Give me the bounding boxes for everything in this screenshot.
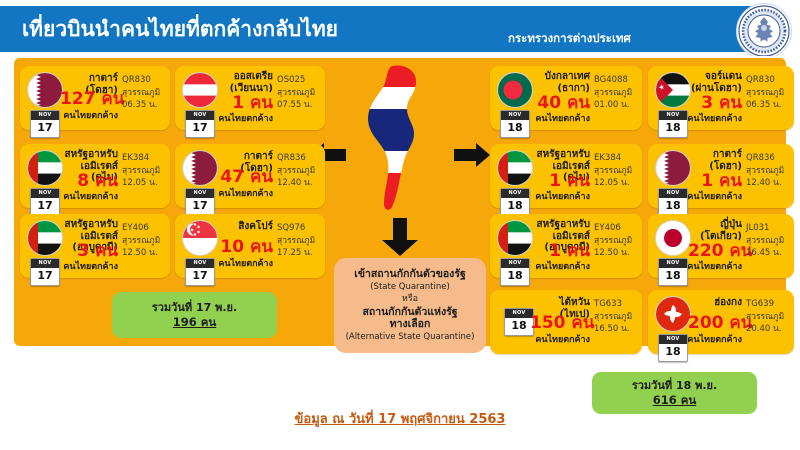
flight-passenger-count: 1 คน <box>688 172 742 190</box>
flight-airport: สุวรรณภูมิ <box>746 166 784 176</box>
page-header: เที่ยวบินนำคนไทยที่ตกค้างกลับไทย กระทรวง… <box>0 0 800 58</box>
flight-number: EY406 <box>594 223 621 233</box>
flight-card: NOV18ฮ่องกง200 คนคนไทยตกค้างTG639สุวรรณภ… <box>648 290 794 354</box>
flight-card: NOV18ญี่ปุ่น(โตเกียว)220 คนคนไทยตกค้างJL… <box>648 214 794 278</box>
flight-passenger-count: 220 คน <box>688 242 742 260</box>
quarantine-box: เข้าสถานกักกันตัวของรัฐ (State Quarantin… <box>334 258 486 353</box>
flight-country: ฮ่องกง <box>688 297 742 309</box>
thailand-map-graphic <box>352 62 448 212</box>
flight-airport: สุวรรณภูมิ <box>122 236 160 246</box>
flight-stranded-label: คนไทยตกค้าง <box>682 335 742 345</box>
flight-airport: สุวรรณภูมิ <box>594 236 632 246</box>
flight-passenger-count: 47 คน <box>215 168 273 186</box>
flight-number: QR836 <box>277 153 306 163</box>
flight-time: 16.50 น. <box>594 324 630 334</box>
flight-number: OS025 <box>277 75 305 85</box>
flight-airport: สุวรรณภูมิ <box>746 88 784 98</box>
flag-icon-uae <box>497 150 533 186</box>
flight-airport: สุวรรณภูมิ <box>746 312 784 322</box>
flight-number: QR836 <box>746 153 775 163</box>
flight-passenger-count: 40 คน <box>530 94 590 112</box>
flight-details: QR830สุวรรณภูมิ06.35 น. <box>746 74 792 112</box>
flight-card: NOV17กาตาร์ (โดฮา)47 คนคนไทยตกค้างQR836ส… <box>175 144 325 208</box>
flight-card: NOV18ไต้หวัน (ไทเป)150 คนคนไทยตกค้างTG63… <box>490 290 642 354</box>
arrow-right-icon <box>452 142 492 172</box>
flight-time: 12.05 น. <box>122 178 158 188</box>
flight-number: SQ976 <box>277 223 305 233</box>
date-badge-day: 18 <box>505 318 533 335</box>
flight-card: NOV17กาตาร์ (โดฮา)127 คนคนไทยตกค้างQR830… <box>20 66 170 130</box>
flight-stranded-label: คนไทยตกค้าง <box>524 335 590 345</box>
flight-details: EK384สุวรรณภูมิ12.05 น. <box>122 152 168 190</box>
flight-time: 20.40 น. <box>746 324 782 334</box>
total-nov18-label: รวมวันที่ 18 พ.ย. <box>632 378 717 393</box>
flight-airport: สุวรรณภูมิ <box>594 312 632 322</box>
flight-card: NOV18กาตาร์(โดฮา)1 คนคนไทยตกค้างQR836สุว… <box>648 144 794 208</box>
flight-card: NOV18จอร์แดน(ผ่านโดฮา)3 คนคนไทยตกค้างQR8… <box>648 66 794 130</box>
flight-stranded-label: คนไทยตกค้าง <box>54 192 118 202</box>
flight-stranded-label: คนไทยตกค้าง <box>209 259 273 269</box>
flight-passenger-count: 127 คน <box>60 90 118 108</box>
date-badge-day: 17 <box>31 120 59 137</box>
flag-icon-jordan <box>655 72 691 108</box>
date-badge-day: 18 <box>659 344 687 361</box>
flight-number: TG639 <box>746 299 774 309</box>
quarantine-line1-en: (State Quarantine) <box>370 281 450 294</box>
flight-time: 12.50 น. <box>594 248 630 258</box>
flight-passenger-count: 1 คน <box>530 172 590 190</box>
flight-country: สิงคโปร์ <box>215 221 273 233</box>
date-badge-month: NOV <box>505 309 533 318</box>
flight-airport: สุวรรณภูมิ <box>594 166 632 176</box>
flight-card: NOV18สหรัฐอาหรับเอมิเรตส์(ดูไบ)1 คนคนไทย… <box>490 144 642 208</box>
flag-icon-uae <box>27 150 63 186</box>
flight-number: EY406 <box>122 223 149 233</box>
flight-time: 16.45 น. <box>746 248 782 258</box>
flag-icon-bangladesh <box>497 72 533 108</box>
data-as-of-note: ข้อมูล ณ วันที่ 17 พฤศจิกายน 2563 <box>0 408 800 429</box>
flight-details: EY406สุวรรณภูมิ12.50 น. <box>594 222 640 260</box>
flight-details: EK384สุวรรณภูมิ12.05 น. <box>594 152 640 190</box>
flight-number: JL031 <box>746 223 769 233</box>
quarantine-line3-th: ทางเลือก <box>390 318 431 331</box>
flight-card: NOV17สหรัฐอาหรับเอมิเรตส์(ดูไบ)8 คนคนไทย… <box>20 144 170 208</box>
flight-card: NOV17สิงคโปร์10 คนคนไทยตกค้างSQ976สุวรรณ… <box>175 214 325 278</box>
flight-number: QR830 <box>122 75 151 85</box>
date-badge-day: 17 <box>186 268 214 285</box>
flight-country: จอร์แดน(ผ่านโดฮา) <box>688 71 742 94</box>
flag-icon-qatar <box>27 72 63 108</box>
flight-time: 12.40 น. <box>277 178 313 188</box>
flight-card: NOV18บังกลาเทศ(ธากา)40 คนคนไทยตกค้างBG40… <box>490 66 642 130</box>
flight-details: BG4088สุวรรณภูมิ01.00 น. <box>594 74 640 112</box>
quarantine-line2-th: สถานกักกันตัวแห่งรัฐ <box>362 306 457 319</box>
flight-stranded-label: คนไทยตกค้าง <box>524 192 590 202</box>
flight-time: 17.25 น. <box>277 248 313 258</box>
total-nov18-value: 616 คน <box>653 393 697 408</box>
flag-icon-qatar <box>655 150 691 186</box>
garuda-seal-icon <box>736 3 792 59</box>
flight-number: TG633 <box>594 299 622 309</box>
date-badge-day: 17 <box>186 198 214 215</box>
flight-passenger-count: 1 คน <box>530 242 590 260</box>
flag-icon-singapore <box>182 220 218 256</box>
flag-icon-hongkong <box>655 296 691 332</box>
flight-card: NOV17สหรัฐอาหรับเอมิเรตส์(อาบูดาบี)3 คนค… <box>20 214 170 278</box>
flight-passenger-count: 150 คน <box>530 314 590 332</box>
flight-stranded-label: คนไทยตกค้าง <box>682 192 742 202</box>
flight-country: ญี่ปุ่น(โตเกียว) <box>688 219 742 242</box>
flight-airport: สุวรรณภูมิ <box>122 88 160 98</box>
flight-time: 12.40 น. <box>746 178 782 188</box>
flight-details: EY406สุวรรณภูมิ12.50 น. <box>122 222 168 260</box>
flight-stranded-label: คนไทยตกค้าง <box>682 114 742 124</box>
flight-country: กาตาร์(โดฮา) <box>688 149 742 172</box>
flight-passenger-count: 200 คน <box>688 314 742 332</box>
total-nov17-label: รวมวันที่ 17 พ.ย. <box>152 300 237 315</box>
flight-details: QR830สุวรรณภูมิ06.35 น. <box>122 74 168 112</box>
flight-time: 01.00 น. <box>594 100 630 110</box>
flight-airport: สุวรรณภูมิ <box>277 166 315 176</box>
flight-passenger-count: 3 คน <box>60 242 118 260</box>
flight-airport: สุวรรณภูมิ <box>277 88 315 98</box>
flag-icon-austria <box>182 72 218 108</box>
flight-number: EK384 <box>594 153 621 163</box>
flight-number: EK384 <box>122 153 149 163</box>
flight-stranded-label: คนไทยตกค้าง <box>524 114 590 124</box>
flight-passenger-count: 10 คน <box>215 238 273 256</box>
flight-passenger-count: 1 คน <box>215 94 273 112</box>
flag-icon-qatar <box>182 150 218 186</box>
flight-number: QR830 <box>746 75 775 85</box>
flight-airport: สุวรรณภูมิ <box>277 236 315 246</box>
flight-card: NOV17ออสเตรีย(เวียนนา)1 คนคนไทยตกค้างOS0… <box>175 66 325 130</box>
flight-country: บังกลาเทศ(ธากา) <box>530 71 590 94</box>
arrow-down-icon <box>378 216 422 262</box>
flight-stranded-label: คนไทยตกค้าง <box>524 262 590 272</box>
flight-details: TG639สุวรรณภูมิ20.40 น. <box>746 298 792 336</box>
flag-icon-japan <box>655 220 691 256</box>
flight-details: JL031สุวรรณภูมิ16.45 น. <box>746 222 792 260</box>
total-nov17-box: รวมวันที่ 17 พ.ย. 196 คน <box>112 292 277 338</box>
flight-stranded-label: คนไทยตกค้าง <box>54 262 118 272</box>
flight-details: TG633สุวรรณภูมิ16.50 น. <box>594 298 640 336</box>
flight-details: QR836สุวรรณภูมิ12.40 น. <box>277 152 323 190</box>
flight-stranded-label: คนไทยตกค้าง <box>209 114 273 124</box>
flight-passenger-count: 3 คน <box>688 94 742 112</box>
flag-icon-uae <box>497 220 533 256</box>
flight-time: 12.50 น. <box>122 248 158 258</box>
flight-card: NOV18สหรัฐอาหรับเอมิเรตส์(อาบูดาบี)1 คนค… <box>490 214 642 278</box>
quarantine-line1-th: เข้าสถานกักกันตัวของรัฐ <box>354 268 466 281</box>
total-nov17-value: 196 คน <box>173 315 217 330</box>
flight-airport: สุวรรณภูมิ <box>746 236 784 246</box>
page-title: เที่ยวบินนำคนไทยที่ตกค้างกลับไทย <box>22 13 338 46</box>
flight-time: 12.05 น. <box>594 178 630 188</box>
flight-details: SQ976สุวรรณภูมิ17.25 น. <box>277 222 323 260</box>
flight-time: 07.55 น. <box>277 100 313 110</box>
flight-country: ออสเตรีย(เวียนนา) <box>215 71 273 94</box>
flight-airport: สุวรรณภูมิ <box>594 88 632 98</box>
quarantine-or: หรือ <box>402 293 418 306</box>
flight-details: QR836สุวรรณภูมิ12.40 น. <box>746 152 792 190</box>
flight-time: 06.35 น. <box>122 100 158 110</box>
flight-stranded-label: คนไทยตกค้าง <box>54 111 118 121</box>
flight-stranded-label: คนไทยตกค้าง <box>209 189 273 199</box>
flight-details: OS025สุวรรณภูมิ07.55 น. <box>277 74 323 112</box>
ministry-label: กระทรวงการต่างประเทศ <box>508 30 631 48</box>
flight-time: 06.35 น. <box>746 100 782 110</box>
flight-airport: สุวรรณภูมิ <box>122 166 160 176</box>
quarantine-line2-en: (Alternative State Quarantine) <box>346 331 475 344</box>
flight-stranded-label: คนไทยตกค้าง <box>682 262 742 272</box>
flag-icon-uae <box>27 220 63 256</box>
flight-passenger-count: 8 คน <box>60 172 118 190</box>
flight-number: BG4088 <box>594 75 628 85</box>
